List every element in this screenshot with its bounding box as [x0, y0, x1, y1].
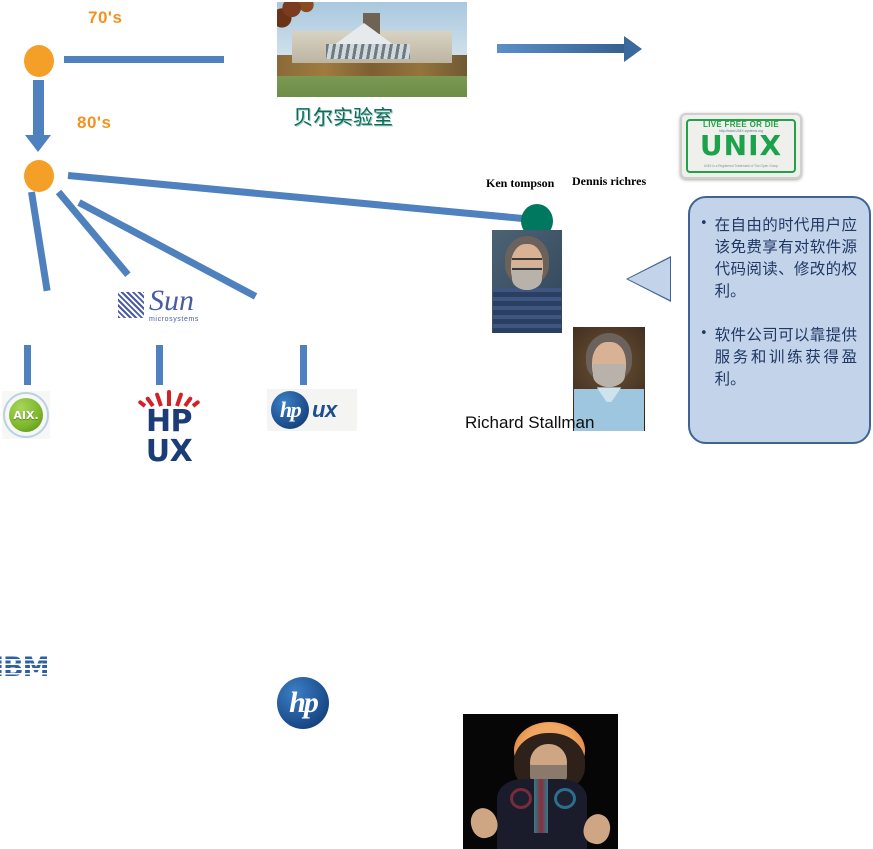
aix-logo: AIX.	[2, 391, 50, 439]
connector-70s-horizontal	[64, 56, 224, 63]
solaris-sunburst-icon	[137, 389, 201, 406]
unix-plate-wordmark: UNIX	[682, 132, 800, 160]
aix-wordmark: AIX.	[9, 398, 43, 432]
richard-stallman-caption: Richard Stallman	[465, 413, 594, 433]
stallman-quote-bubble: • 在自由的时代用户应该免费享有对软件源代码阅读、修改的权利。 • 软件公司可以…	[688, 196, 871, 444]
timeline-node-80s	[24, 160, 54, 192]
hp-logo: hp	[277, 677, 329, 729]
solaris-wordmark: HP UX	[119, 407, 219, 467]
arrow-70s-to-80s-head	[25, 135, 51, 152]
sun-wordmark-block: Sun microsystems	[149, 287, 199, 323]
sun-wordmark: Sun	[149, 287, 199, 316]
dennis-ritchie-beard	[593, 364, 625, 387]
arrow-to-unix-head	[624, 36, 642, 62]
unix-plate-trademark-note: UNIX is a Registered Trademark of The Op…	[682, 164, 800, 168]
stallman-robe-ring-right	[554, 788, 576, 809]
decade-label-80s: 80's	[77, 113, 111, 133]
connector-80s-to-green-node	[68, 172, 532, 223]
aix-outer-ring: AIX.	[3, 392, 49, 438]
stallman-robe-ring-left	[510, 788, 532, 809]
speech-bubble-tail	[628, 258, 670, 300]
sun-logo: Sun microsystems	[118, 287, 199, 323]
quote-bullet-2-text: 软件公司可以靠提供服务和训练获得盈利。	[715, 324, 857, 390]
stallman-hand-left	[467, 805, 501, 842]
bell-photo-foliage	[277, 2, 326, 31]
bell-labs-photo	[277, 2, 467, 97]
decade-label-70s: 70's	[88, 8, 122, 28]
connector-hp-to-hpux	[300, 345, 307, 385]
arrow-to-unix-stem	[497, 44, 625, 53]
ken-thompson-photo	[492, 230, 562, 333]
stallman-robe-stripe	[534, 779, 548, 833]
hpux-ux-wordmark: ux	[312, 397, 337, 423]
connector-ibm-to-aix	[24, 345, 31, 385]
hpux-circle-icon: hp	[271, 391, 309, 429]
connector-sun-to-solaris	[156, 345, 163, 385]
arrow-70s-to-80s-stem	[33, 80, 44, 137]
unix-license-plate: LIVE FREE OR DIE http://www.UNIX-systems…	[680, 113, 802, 179]
bullet-marker-icon: •	[700, 324, 708, 390]
hpux-logo: hp ux	[267, 389, 357, 431]
timeline-node-70s	[24, 45, 54, 77]
ken-thompson-beard	[512, 267, 543, 290]
quote-bullet-1: • 在自由的时代用户应该免费享有对软件源代码阅读、修改的权利。	[700, 214, 857, 302]
ken-thompson-glasses	[512, 258, 541, 270]
sun-diamond-icon	[118, 292, 144, 318]
quote-bullet-1-text: 在自由的时代用户应该免费享有对软件源代码阅读、修改的权利。	[715, 214, 857, 302]
connector-80s-to-ibm	[28, 191, 51, 291]
bell-photo-glass-roof	[326, 44, 410, 59]
ibm-stripe-overlay	[0, 654, 62, 682]
unix-plate-slogan: LIVE FREE OR DIE	[682, 120, 800, 129]
bell-labs-caption: 贝尔实验室	[293, 101, 393, 130]
hpux-hp-wordmark: hp	[271, 391, 309, 429]
solaris-logo: HP UX	[119, 389, 219, 467]
sun-subtitle: microsystems	[149, 316, 199, 323]
ken-thompson-caption: Ken tompson	[486, 176, 554, 191]
dennis-ritchie-caption: Dennis richres	[572, 174, 646, 189]
bullet-marker-icon: •	[700, 214, 708, 302]
ibm-logo: IBM	[0, 654, 62, 682]
richard-stallman-photo	[463, 714, 618, 849]
quote-bullet-2: • 软件公司可以靠提供服务和训练获得盈利。	[700, 324, 857, 390]
ken-thompson-shirt	[493, 288, 560, 333]
connector-80s-to-sun	[56, 190, 131, 277]
hp-wordmark: hp	[277, 677, 329, 729]
